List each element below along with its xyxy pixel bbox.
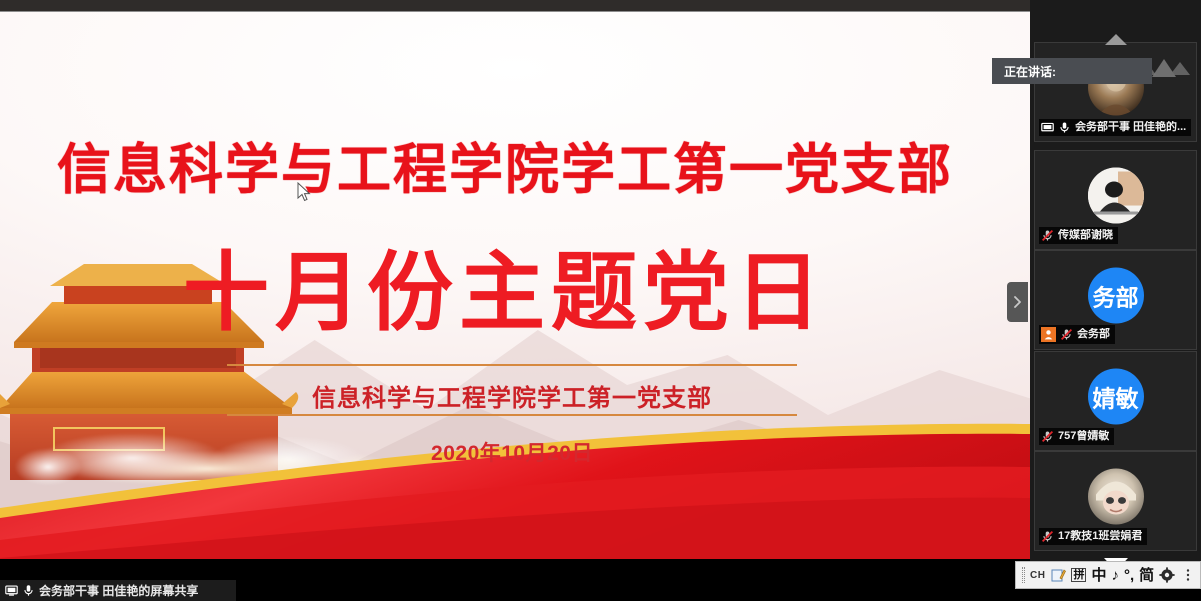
host-badge-icon — [1041, 327, 1056, 342]
screen-share-label: 会务部干事 田佳艳的屏幕共享 — [39, 585, 198, 597]
microphone-muted-icon — [1041, 530, 1054, 543]
participant-name: 17教技1班尝娟君 — [1058, 530, 1142, 543]
slide-organization: 信息科学与工程学院学工第一党支部 — [0, 378, 1024, 413]
slide-date: 2020年10月20日 — [0, 437, 1024, 467]
microphone-muted-icon — [1060, 328, 1073, 341]
ime-script-label[interactable]: 简 — [1139, 568, 1154, 583]
shared-screen-area: 信息科学与工程学院学工第一党支部 十月份主题党日 信息科学与工程学院学工第一党支… — [0, 12, 1030, 580]
participant-name: 传媒部谢晓 — [1058, 229, 1113, 242]
ime-input-method-label[interactable]: 拼 — [1071, 568, 1086, 583]
screen: 信息科学与工程学院学工第一党支部 十月份主题党日 信息科学与工程学院学工第一党支… — [0, 0, 1201, 601]
participant-tile[interactable]: 17教技1班尝娟君 — [1034, 451, 1197, 551]
microphone-muted-icon — [1041, 229, 1054, 242]
participant-name-row: 会务部干事 田佳艳的... — [1039, 119, 1191, 136]
ime-bottom-filler — [1015, 589, 1201, 601]
share-area-bottom-bar — [0, 559, 1030, 580]
participant-tile[interactable]: 婧敏 757曾婧敏 — [1034, 351, 1197, 451]
microphone-muted-icon — [1041, 430, 1054, 443]
avatar: 务部 — [1088, 268, 1144, 324]
handwriting-pen-icon[interactable] — [1050, 567, 1066, 583]
participant-tile[interactable]: 传媒部谢晓 — [1034, 150, 1197, 250]
participant-name-row: 757曾婧敏 — [1039, 428, 1114, 445]
microphone-icon — [1058, 121, 1071, 134]
chevron-right-icon — [1012, 295, 1023, 309]
participant-name-row: 传媒部谢晓 — [1039, 227, 1118, 244]
ime-toolbar[interactable]: CH 拼 中 ♪ °, 简 — [1015, 561, 1201, 589]
ime-language-code[interactable]: CH — [1030, 570, 1045, 581]
slide-text-layer: 信息科学与工程学院学工第一党支部 十月份主题党日 信息科学与工程学院学工第一党支… — [0, 12, 1030, 580]
mouse-cursor — [297, 182, 311, 202]
screen-share-status-bar[interactable]: 会务部干事 田佳艳的屏幕共享 — [0, 580, 236, 601]
scroll-up-arrow-icon[interactable] — [1105, 34, 1127, 45]
presentation-slide: 信息科学与工程学院学工第一党支部 十月份主题党日 信息科学与工程学院学工第一党支… — [0, 12, 1030, 580]
participant-tile[interactable]: 务部 — [1034, 250, 1197, 350]
participant-sidebar: 会务部干事 田佳艳的... — [1030, 0, 1201, 601]
participant-name: 会务部干事 田佳艳的... — [1075, 121, 1186, 134]
speaking-tooltip: 正在讲话: — [992, 58, 1152, 84]
ime-mode-label[interactable]: 中 — [1091, 568, 1106, 583]
participant-name-row: 17教技1班尝娟君 — [1039, 528, 1147, 545]
vertical-dots-icon[interactable] — [1180, 567, 1196, 583]
sidebar-collapse-button[interactable] — [1007, 282, 1028, 322]
participant-name: 会务部 — [1077, 328, 1110, 341]
avatar — [1088, 168, 1144, 224]
ime-symbol-label[interactable]: °, — [1124, 568, 1134, 583]
gear-icon[interactable] — [1159, 567, 1175, 583]
avatar: 婧敏 — [1088, 369, 1144, 425]
screen-share-icon — [1041, 121, 1054, 134]
microphone-icon — [22, 584, 35, 597]
participant-name-row: 会务部 — [1039, 325, 1115, 344]
ime-drag-handle[interactable] — [1022, 567, 1025, 583]
ime-punctuation-label[interactable]: ♪ — [1111, 568, 1119, 583]
participant-name: 757曾婧敏 — [1058, 430, 1109, 443]
screen-share-icon — [5, 584, 18, 597]
top-strip — [0, 0, 1030, 12]
slide-title: 信息科学与工程学院学工第一党支部 — [0, 125, 1010, 204]
slide-headline: 十月份主题党日 — [0, 222, 1010, 347]
avatar — [1088, 469, 1144, 525]
